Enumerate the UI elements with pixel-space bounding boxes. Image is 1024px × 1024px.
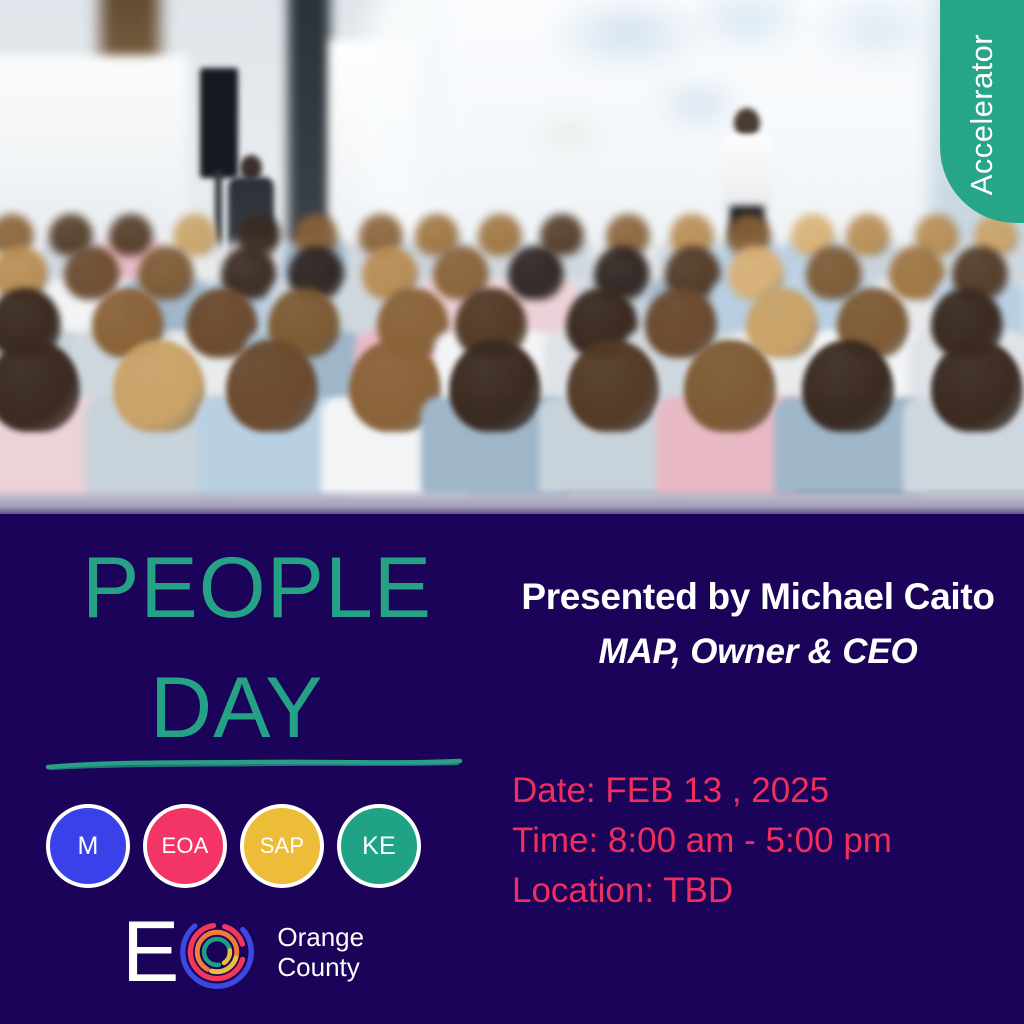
accelerator-ribbon: Accelerator: [940, 0, 1024, 223]
photo-attendee-head: [802, 340, 894, 432]
photo-attendee-head: [109, 214, 153, 256]
photo-attendee-head: [567, 340, 659, 432]
title-underline: [44, 752, 464, 774]
left-column: PEOPLE DAY MEOASAPKE E: [0, 514, 480, 1024]
program-badge-sap[interactable]: SAP: [240, 804, 324, 888]
photo-attendee-head: [449, 340, 541, 432]
photo-attendee-head: [684, 340, 776, 432]
event-date: Date: FEB 13 , 2025: [512, 766, 892, 816]
photo-attendee-head: [931, 340, 1023, 432]
right-column: Presented by Michael Caito MAP, Owner & …: [480, 514, 1024, 1024]
photo-attendee-head: [846, 214, 890, 256]
event-details: Date: FEB 13 , 2025 Time: 8:00 am - 5:00…: [512, 766, 892, 916]
photo-attendee-head: [113, 340, 205, 432]
program-badges: MEOASAPKE: [46, 804, 421, 888]
conference-photo: [0, 0, 1024, 514]
program-badge-m[interactable]: M: [46, 804, 130, 888]
page-title-line2: DAY: [150, 666, 323, 750]
page-title-line1: PEOPLE: [82, 546, 432, 630]
accelerator-ribbon-label: Accelerator: [964, 28, 1000, 195]
eo-concentric-ring-icon: [179, 914, 255, 990]
photo-attendee-head: [226, 340, 318, 432]
event-time: Time: 8:00 am - 5:00 pm: [512, 816, 892, 866]
info-panel: PEOPLE DAY MEOASAPKE E: [0, 514, 1024, 1024]
event-poster: Accelerator PEOPLE DAY MEOASAPKE E: [0, 0, 1024, 1024]
photo-attendee-head: [478, 214, 522, 256]
eo-logo: E Orange County: [122, 914, 364, 990]
presenter-name: Presented by Michael Caito: [498, 576, 1018, 618]
photo-attendee-head: [746, 288, 818, 358]
eo-chapter-name: Orange County: [277, 923, 364, 982]
presenter-role: MAP, Owner & CEO: [498, 632, 1018, 672]
event-location: Location: TBD: [512, 866, 892, 916]
eo-logo-letter: E: [122, 917, 177, 988]
photo-bottom-fade: [0, 488, 1024, 514]
photo-audience: [0, 210, 1024, 514]
program-badge-ke[interactable]: KE: [337, 804, 421, 888]
eo-chapter-line1: Orange: [277, 923, 364, 953]
eo-chapter-line2: County: [277, 953, 364, 983]
program-badge-eoa[interactable]: EOA: [143, 804, 227, 888]
photo-attendee-head: [508, 246, 564, 300]
photo-attendee-head: [806, 246, 862, 300]
